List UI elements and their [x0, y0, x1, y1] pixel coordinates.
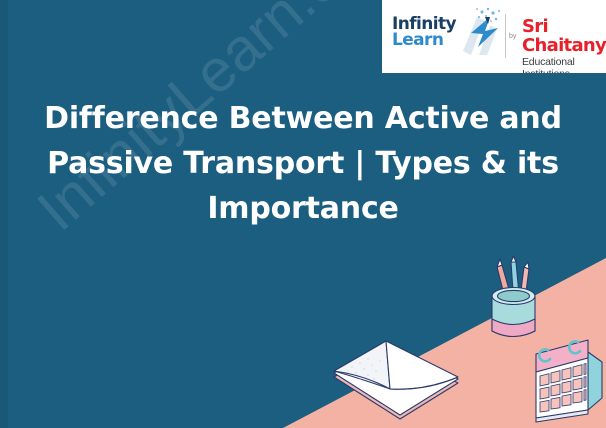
partner-brand-block: Sri Chaitanya Educational Institutions [522, 17, 606, 73]
by-label: by [509, 33, 516, 40]
partner-title: Sri Chaitanya [522, 17, 606, 55]
left-edge-rail [0, 0, 8, 428]
article-thumbnail-banner: InfinityLearn.com Difference Between Act… [0, 0, 606, 428]
open-book-icon [330, 333, 462, 428]
pencil-cup-icon [474, 243, 552, 351]
page-title: Difference Between Active and Passive Tr… [32, 96, 574, 231]
logo-divider [505, 14, 506, 58]
infinity-arrow-icon [457, 5, 503, 55]
brand-logo-card: Infinity Learn by [382, 0, 606, 73]
learn-word: Learn [392, 33, 456, 48]
partner-subtitle: Educational Institutions [522, 56, 606, 73]
desk-calendar-icon [526, 336, 606, 428]
infinity-learn-wordmark: Infinity Learn [392, 17, 456, 48]
